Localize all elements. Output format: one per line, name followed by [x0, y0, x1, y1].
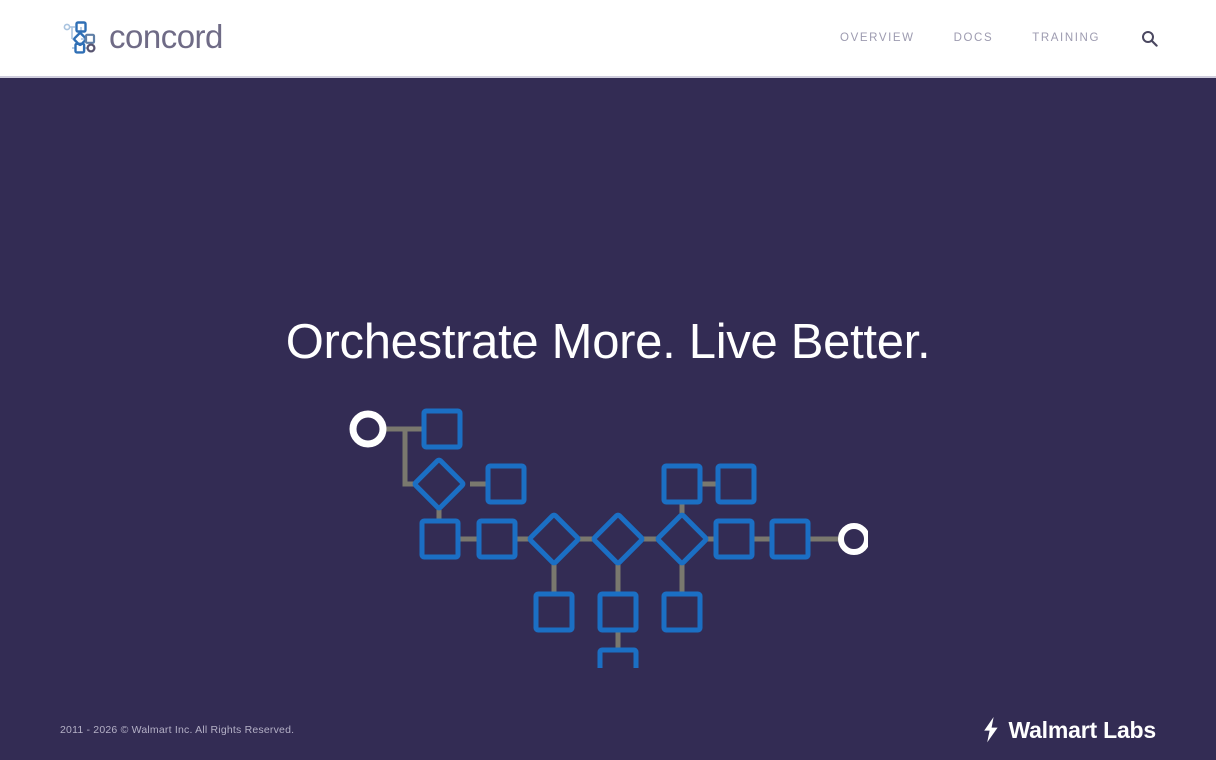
node-end-circle	[841, 526, 867, 552]
node-square-8	[772, 521, 808, 557]
node-square-3	[664, 466, 700, 502]
node-diamond-1	[414, 459, 463, 508]
node-square-10	[600, 594, 636, 630]
hero-section: Orchestrate More. Live Better.	[0, 78, 1216, 760]
node-diamond-4	[657, 514, 706, 563]
hero-diagram-container	[0, 398, 1216, 668]
node-square-5	[422, 521, 458, 557]
site-header: concord OVERVIEW DOCS TRAINING	[0, 0, 1216, 78]
node-square-11	[664, 594, 700, 630]
node-square-4	[718, 466, 754, 502]
main-navigation: OVERVIEW DOCS TRAINING	[840, 30, 1158, 47]
workflow-diagram	[348, 398, 868, 668]
node-square-1	[424, 411, 460, 447]
nav-item-training[interactable]: TRAINING	[1032, 32, 1100, 44]
node-diamond-3	[593, 514, 642, 563]
landing-page: concord OVERVIEW DOCS TRAINING Orchestra…	[0, 0, 1216, 760]
brand-logo-link[interactable]: concord	[60, 18, 223, 58]
node-diamond-2	[529, 514, 578, 563]
site-footer: 2011 - 2026 © Walmart Inc. All Rights Re…	[0, 700, 1216, 760]
page-title: Orchestrate More. Live Better.	[0, 316, 1216, 370]
node-square-7	[716, 521, 752, 557]
node-square-2	[488, 466, 524, 502]
walmart-labs-wordmark: Walmart Labs	[1008, 717, 1156, 744]
search-button[interactable]	[1141, 30, 1158, 47]
nav-item-docs[interactable]: DOCS	[954, 32, 994, 44]
node-square-12	[600, 650, 636, 668]
walmart-labs-logo: Walmart Labs	[981, 717, 1156, 744]
node-square-9	[536, 594, 572, 630]
node-start-circle	[353, 414, 383, 444]
brand-wordmark: concord	[109, 20, 223, 56]
copyright-text: 2011 - 2026 © Walmart Inc. All Rights Re…	[60, 724, 294, 736]
node-square-6	[479, 521, 515, 557]
concord-flow-logo-icon	[60, 18, 100, 58]
nav-item-overview[interactable]: OVERVIEW	[840, 32, 915, 44]
walmart-spark-icon	[981, 717, 1001, 743]
search-icon	[1141, 30, 1158, 47]
